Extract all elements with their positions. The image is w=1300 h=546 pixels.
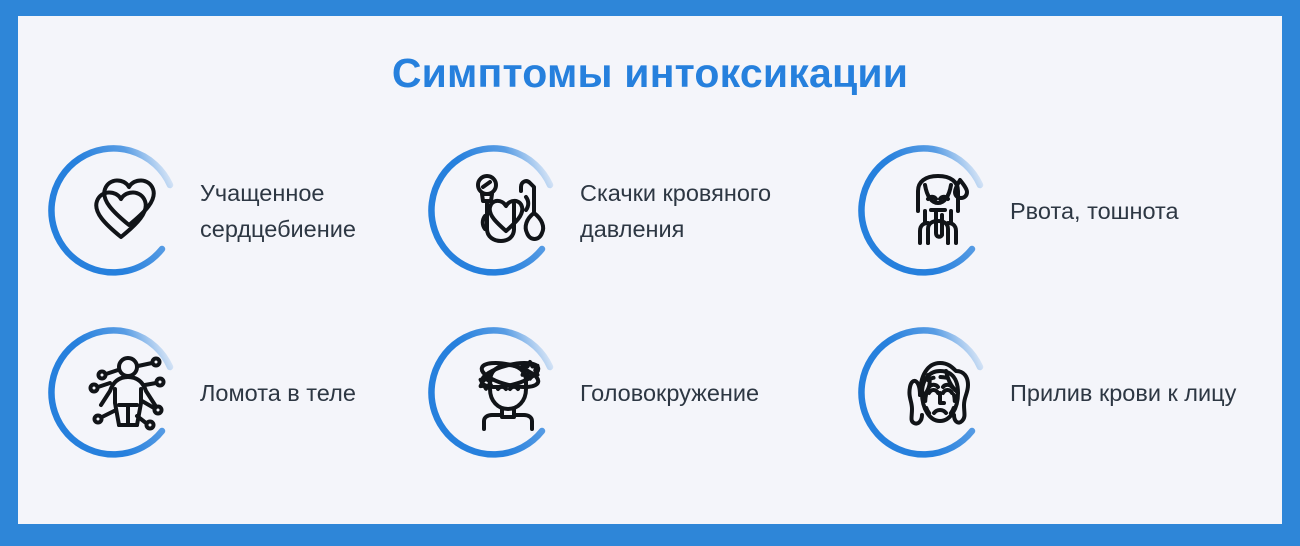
icon-ring-facial-flush: [876, 323, 996, 463]
symptom-label: Скачки кровяного давления: [580, 175, 850, 247]
double-heart-icon: [88, 171, 168, 251]
symptom-item-heartbeat: Учащенное сердцебиение: [66, 120, 446, 302]
page-title: Симптомы интоксикации: [18, 50, 1282, 97]
dizzy-head-icon: [468, 353, 548, 433]
flushed-face-icon: [898, 353, 978, 433]
icon-ring-body-ache: [66, 323, 186, 463]
icon-ring-nausea: [876, 141, 996, 281]
nausea-person-icon: [898, 171, 978, 251]
poster-inner-panel: Симптомы интоксикации: [18, 16, 1282, 524]
body-ache-figure-icon: [88, 353, 168, 433]
symptom-label: Рвота, тошнота: [1010, 193, 1179, 229]
symptom-item-nausea: Рвота, тошнота: [876, 120, 1256, 302]
icon-ring-dizziness: [446, 323, 566, 463]
symptom-label: Головокружение: [580, 375, 759, 411]
symptom-label: Учащенное сердцебиение: [200, 175, 446, 247]
symptom-label: Ломота в теле: [200, 375, 356, 411]
infographic-poster: Симптомы интоксикации: [0, 0, 1300, 546]
symptom-item-body-ache: Ломота в теле: [66, 302, 446, 484]
symptom-grid: Учащенное сердцебиение: [66, 120, 1256, 484]
symptom-item-dizziness: Головокружение: [446, 302, 876, 484]
blood-pressure-monitor-icon: [468, 171, 548, 251]
icon-ring-blood-pressure: [446, 141, 566, 281]
symptom-label: Прилив крови к лицу: [1010, 375, 1236, 411]
icon-ring-heartbeat: [66, 141, 186, 281]
symptom-item-blood-pressure: Скачки кровяного давления: [446, 120, 876, 302]
symptom-item-facial-flush: Прилив крови к лицу: [876, 302, 1256, 484]
